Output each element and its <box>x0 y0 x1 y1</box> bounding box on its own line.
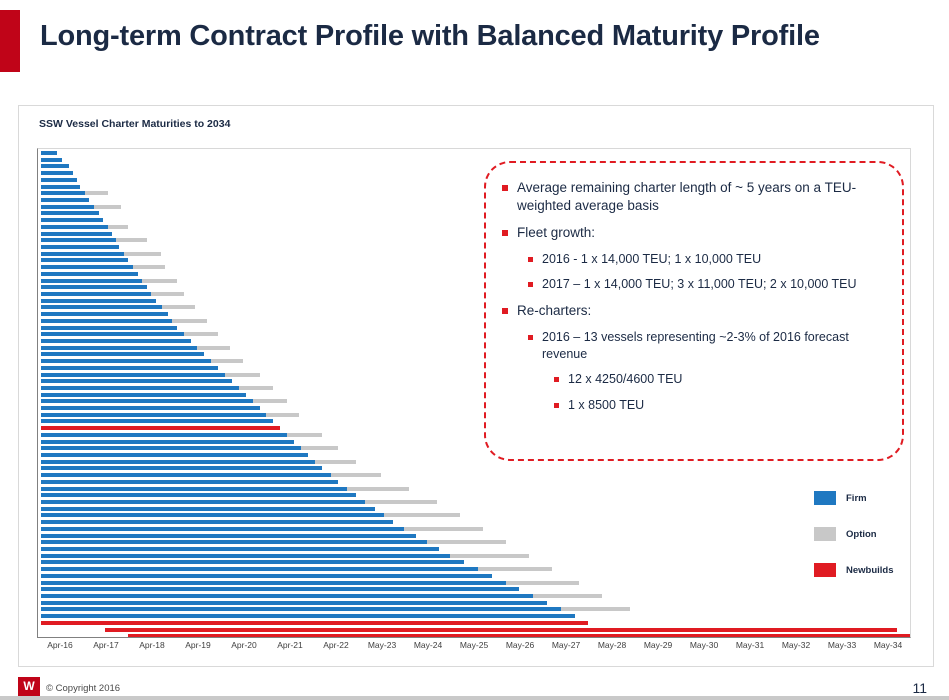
table-row <box>41 406 260 410</box>
bullet-icon <box>528 282 533 287</box>
table-row <box>41 352 204 356</box>
table-row <box>331 473 382 477</box>
table-row <box>41 339 191 343</box>
footer-divider <box>0 696 949 700</box>
page-title: Long-term Contract Profile with Balanced… <box>40 20 820 53</box>
legend-item-label: Firm <box>846 493 867 504</box>
table-row <box>41 426 280 430</box>
table-row <box>41 453 308 457</box>
table-row <box>116 238 147 242</box>
table-row <box>384 513 460 517</box>
table-row <box>41 178 77 182</box>
table-row <box>184 332 219 336</box>
bullet-icon <box>528 335 533 340</box>
bullet-icon <box>502 230 508 236</box>
x-axis-tick: May-29 <box>644 640 672 650</box>
table-row <box>266 413 298 417</box>
x-axis-tick: May-24 <box>414 640 442 650</box>
table-row <box>41 279 142 283</box>
table-row <box>41 265 133 269</box>
bullet-icon <box>502 308 508 314</box>
table-row <box>172 319 207 323</box>
table-row <box>41 493 356 497</box>
table-row <box>41 319 172 323</box>
table-row <box>41 272 138 276</box>
table-row <box>41 185 80 189</box>
table-row <box>41 513 384 517</box>
table-row <box>365 500 436 504</box>
table-row <box>41 440 294 444</box>
list-item: Fleet growth: <box>502 224 888 242</box>
table-row <box>41 386 239 390</box>
table-row <box>41 587 519 591</box>
table-row <box>197 346 229 350</box>
x-axis-tick: Apr-17 <box>93 640 119 650</box>
x-axis-tick: May-34 <box>874 640 902 650</box>
list-item: 2017 – 1 x 14,000 TEU; 3 x 11,000 TEU; 2… <box>528 276 888 293</box>
table-row <box>41 574 492 578</box>
table-row <box>41 614 575 618</box>
table-row <box>404 527 482 531</box>
table-row <box>124 252 161 256</box>
table-row <box>41 252 124 256</box>
legend-item: Option <box>814 527 924 541</box>
table-row <box>41 332 184 336</box>
table-row <box>133 265 165 269</box>
x-axis-tick: May-23 <box>368 640 396 650</box>
table-row <box>41 238 116 242</box>
table-row <box>41 473 331 477</box>
table-row <box>41 446 301 450</box>
x-axis-tick: May-31 <box>736 640 764 650</box>
table-row <box>41 198 89 202</box>
x-axis-tick: May-25 <box>460 640 488 650</box>
page-number: 11 <box>912 680 927 696</box>
list-item: 2016 – 13 vessels representing ~2-3% of … <box>528 329 888 362</box>
table-row <box>162 305 196 309</box>
table-row <box>315 460 356 464</box>
table-row <box>41 607 561 611</box>
slide-footer: W © Copyright 2016 11 <box>0 672 949 700</box>
x-axis-tick: May-28 <box>598 640 626 650</box>
table-row <box>41 547 439 551</box>
x-axis-tick: Apr-21 <box>277 640 303 650</box>
table-row <box>41 527 404 531</box>
table-row <box>41 292 151 296</box>
table-row <box>41 399 253 403</box>
table-row <box>301 446 338 450</box>
callout-box: Average remaining charter length of ~ 5 … <box>484 161 904 461</box>
table-row <box>85 191 108 195</box>
list-item-label: Re-charters: <box>517 302 591 320</box>
table-row <box>41 554 450 558</box>
title-accent-bar <box>0 10 20 72</box>
table-row <box>41 225 108 229</box>
table-row <box>41 433 287 437</box>
table-row <box>41 366 218 370</box>
table-row <box>506 581 580 585</box>
table-row <box>41 218 103 222</box>
x-axis-tick: Apr-20 <box>231 640 257 650</box>
table-row <box>450 554 528 558</box>
legend-swatch-icon <box>814 563 836 577</box>
table-row <box>41 258 128 262</box>
table-row <box>561 607 630 611</box>
table-row <box>41 346 197 350</box>
x-axis-tick: Apr-16 <box>47 640 73 650</box>
table-row <box>41 158 62 162</box>
list-item-label: 1 x 8500 TEU <box>568 397 644 414</box>
legend-item: Newbuilds <box>814 563 924 577</box>
table-row <box>41 567 478 571</box>
bullet-icon <box>554 403 559 408</box>
table-row <box>151 292 183 296</box>
table-row <box>142 279 177 283</box>
table-row <box>478 567 552 571</box>
table-row <box>41 507 375 511</box>
table-row <box>347 487 409 491</box>
table-row <box>41 164 69 168</box>
list-item-label: Average remaining charter length of ~ 5 … <box>517 179 888 215</box>
list-item-label: 2017 – 1 x 14,000 TEU; 3 x 11,000 TEU; 2… <box>542 276 857 293</box>
x-axis-tick: May-30 <box>690 640 718 650</box>
table-row <box>41 171 73 175</box>
table-row <box>41 520 393 524</box>
bullet-icon <box>502 185 508 191</box>
table-row <box>211 359 243 363</box>
x-axis-tick: Apr-22 <box>323 640 349 650</box>
list-item-label: 2016 – 13 vessels representing ~2-3% of … <box>542 329 888 362</box>
table-row <box>41 305 162 309</box>
list-item: 12 x 4250/4600 TEU <box>554 371 888 388</box>
table-row <box>41 560 464 564</box>
table-row <box>41 285 147 289</box>
list-item: 2016 - 1 x 14,000 TEU; 1 x 10,000 TEU <box>528 251 888 268</box>
legend-swatch-icon <box>814 527 836 541</box>
list-item: 1 x 8500 TEU <box>554 397 888 414</box>
table-row <box>41 601 547 605</box>
list-item: Average remaining charter length of ~ 5 … <box>502 179 888 215</box>
table-row <box>287 433 322 437</box>
chart-x-axis: Apr-16Apr-17Apr-18Apr-19Apr-20Apr-21Apr-… <box>37 640 911 660</box>
chart-panel: SSW Vessel Charter Maturities to 2034 Ap… <box>18 105 934 667</box>
x-axis-tick: May-32 <box>782 640 810 650</box>
x-axis-tick: May-26 <box>506 640 534 650</box>
table-row <box>41 299 156 303</box>
table-row <box>41 540 427 544</box>
table-row <box>41 232 112 236</box>
table-row <box>41 534 416 538</box>
table-row <box>41 500 365 504</box>
table-row <box>41 379 232 383</box>
list-item-label: 12 x 4250/4600 TEU <box>568 371 682 388</box>
table-row <box>253 399 288 403</box>
table-row <box>239 386 274 390</box>
chart-title: SSW Vessel Charter Maturities to 2034 <box>39 118 230 130</box>
bullet-icon <box>554 377 559 382</box>
table-row <box>105 628 896 632</box>
legend-swatch-icon <box>814 491 836 505</box>
table-row <box>41 205 94 209</box>
table-row <box>41 151 57 155</box>
table-row <box>94 205 122 209</box>
table-row <box>41 312 168 316</box>
table-row <box>41 460 315 464</box>
company-logo: W <box>18 677 40 696</box>
list-item-label: 2016 - 1 x 14,000 TEU; 1 x 10,000 TEU <box>542 251 761 268</box>
x-axis-tick: Apr-18 <box>139 640 165 650</box>
list-item-label: Fleet growth: <box>517 224 595 242</box>
table-row <box>41 373 225 377</box>
table-row <box>41 326 177 330</box>
legend-item: Firm <box>814 491 924 505</box>
x-axis-tick: May-33 <box>828 640 856 650</box>
table-row <box>41 413 266 417</box>
table-row <box>533 594 602 598</box>
table-row <box>128 634 910 638</box>
table-row <box>41 359 211 363</box>
table-row <box>41 621 588 625</box>
table-row <box>41 487 347 491</box>
bullet-icon <box>528 257 533 262</box>
x-axis-tick: May-27 <box>552 640 580 650</box>
table-row <box>41 581 506 585</box>
table-row <box>41 393 246 397</box>
table-row <box>41 594 533 598</box>
table-row <box>41 211 99 215</box>
table-row <box>427 540 505 544</box>
table-row <box>41 245 119 249</box>
legend-item-label: Newbuilds <box>846 565 894 576</box>
legend-item-label: Option <box>846 529 877 540</box>
table-row <box>41 466 322 470</box>
table-row <box>108 225 129 229</box>
copyright-text: © Copyright 2016 <box>46 683 120 694</box>
x-axis-tick: Apr-19 <box>185 640 211 650</box>
table-row <box>41 419 273 423</box>
table-row <box>41 191 85 195</box>
table-row <box>225 373 260 377</box>
table-row <box>41 480 338 484</box>
chart-legend: FirmOptionNewbuilds <box>814 491 924 599</box>
list-item: Re-charters: <box>502 302 888 320</box>
